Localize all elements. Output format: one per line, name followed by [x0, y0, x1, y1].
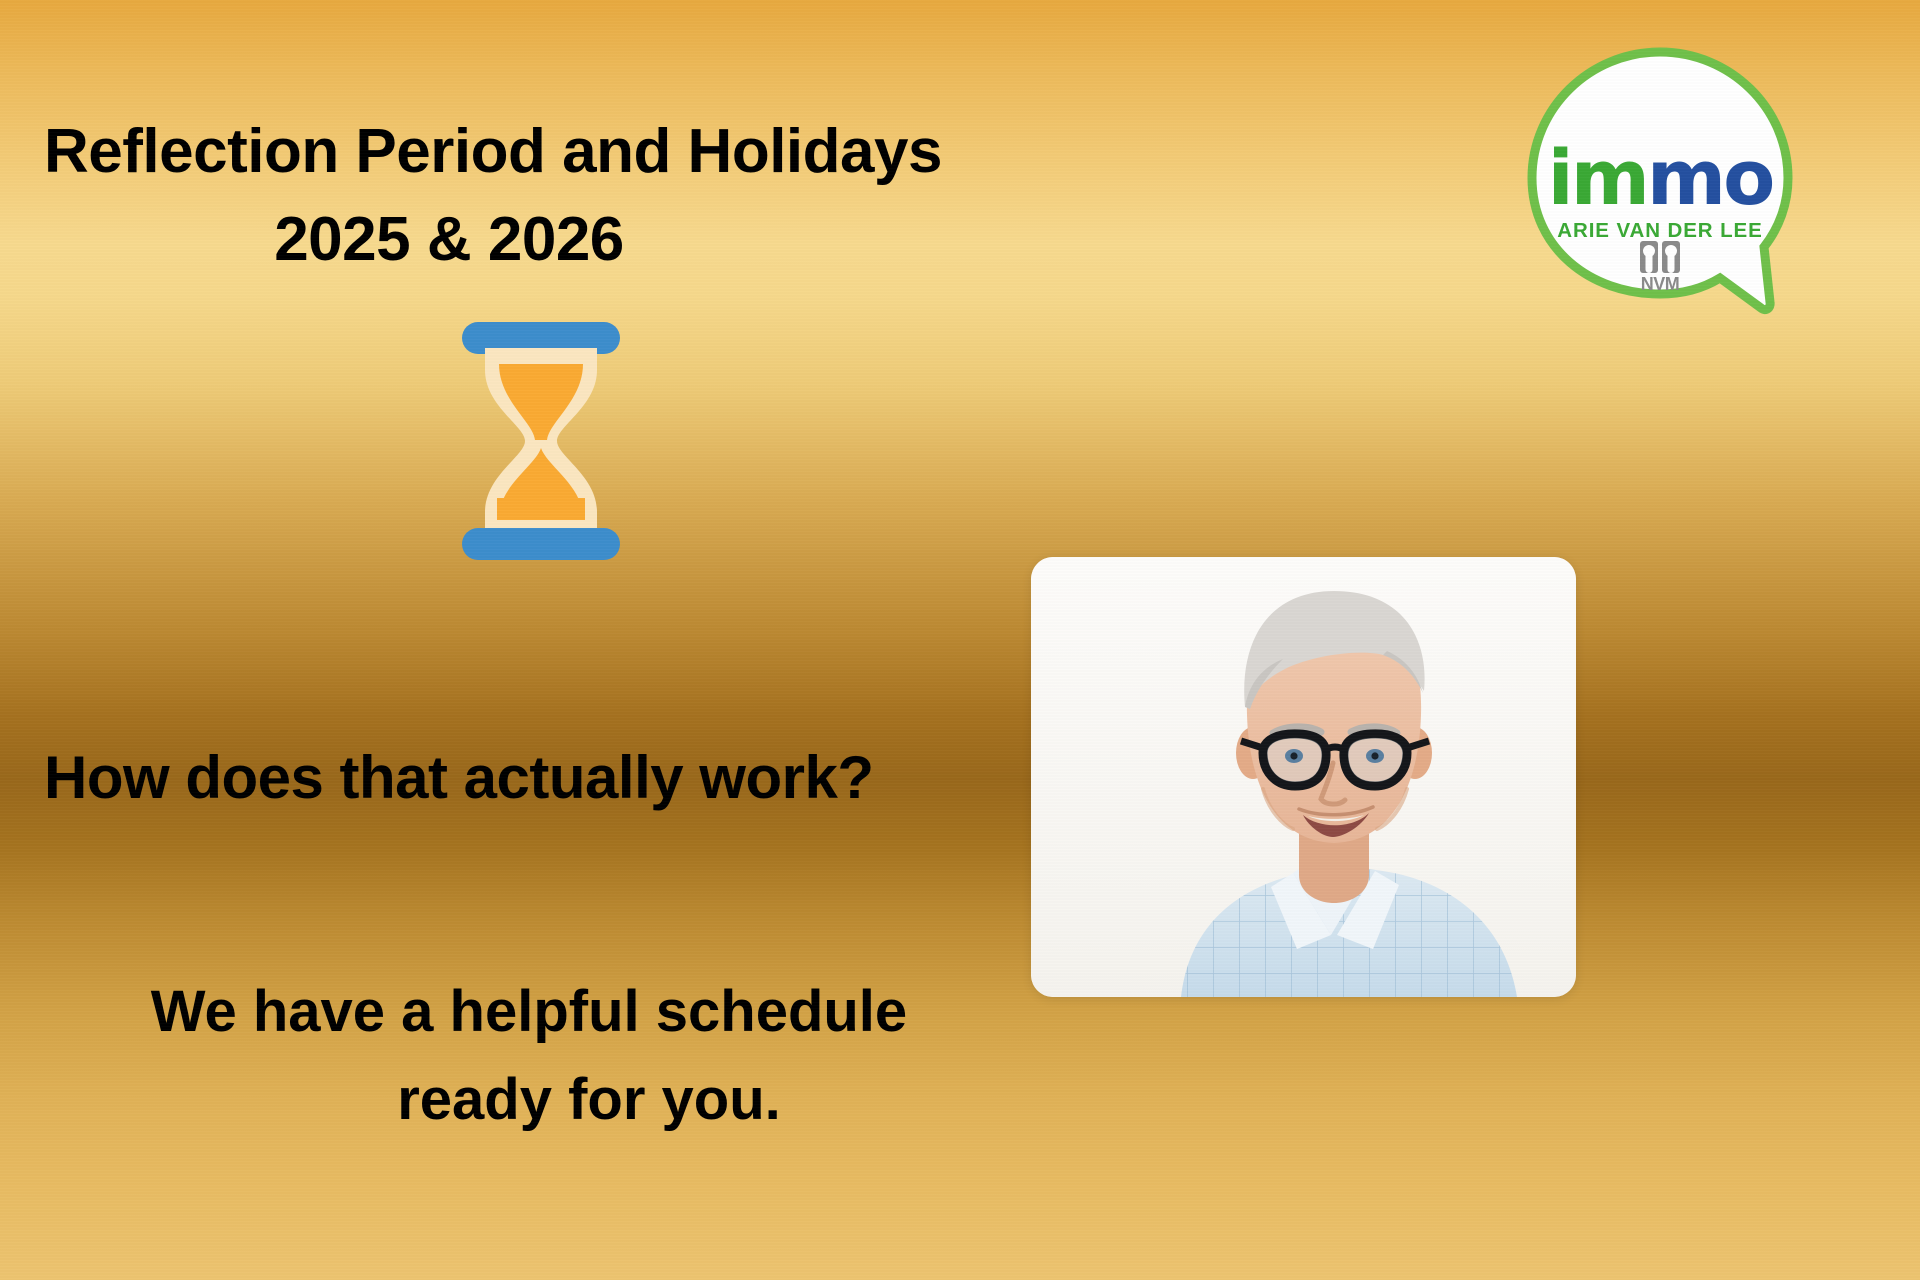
closing-line-1: We have a helpful schedule: [44, 968, 974, 1056]
brand-logo[interactable]: immo ARIE VAN DER LEE NVM: [1524, 44, 1796, 316]
logo-word-mo: mo: [1647, 133, 1772, 222]
avatar: [1031, 557, 1576, 997]
logo-word-im: im: [1548, 133, 1647, 222]
closing-message: We have a helpful schedule ready for you…: [44, 968, 974, 1144]
logo-wordmark: immo ARIE VAN DER LEE: [1524, 140, 1796, 242]
hourglass-icon: [462, 322, 620, 560]
closing-line-2: ready for you.: [44, 1056, 974, 1144]
question-text: How does that actually work?: [44, 745, 874, 811]
nvm-icon: [1639, 240, 1681, 274]
headline-line-2: 2025 & 2026: [44, 196, 1044, 284]
page-title: Reflection Period and Holidays 2025 & 20…: [44, 108, 1044, 284]
nvm-label: NVM: [1524, 274, 1796, 295]
hourglass-bottom-cap: [462, 528, 620, 560]
hourglass-glass: [483, 348, 599, 534]
nvm-logo: NVM: [1524, 240, 1796, 295]
portrait-illustration: [1031, 557, 1576, 997]
logo-tagline: ARIE VAN DER LEE: [1524, 221, 1796, 242]
headline-line-1: Reflection Period and Holidays: [44, 108, 1044, 196]
slide-canvas: Reflection Period and Holidays 2025 & 20…: [0, 0, 1920, 1280]
